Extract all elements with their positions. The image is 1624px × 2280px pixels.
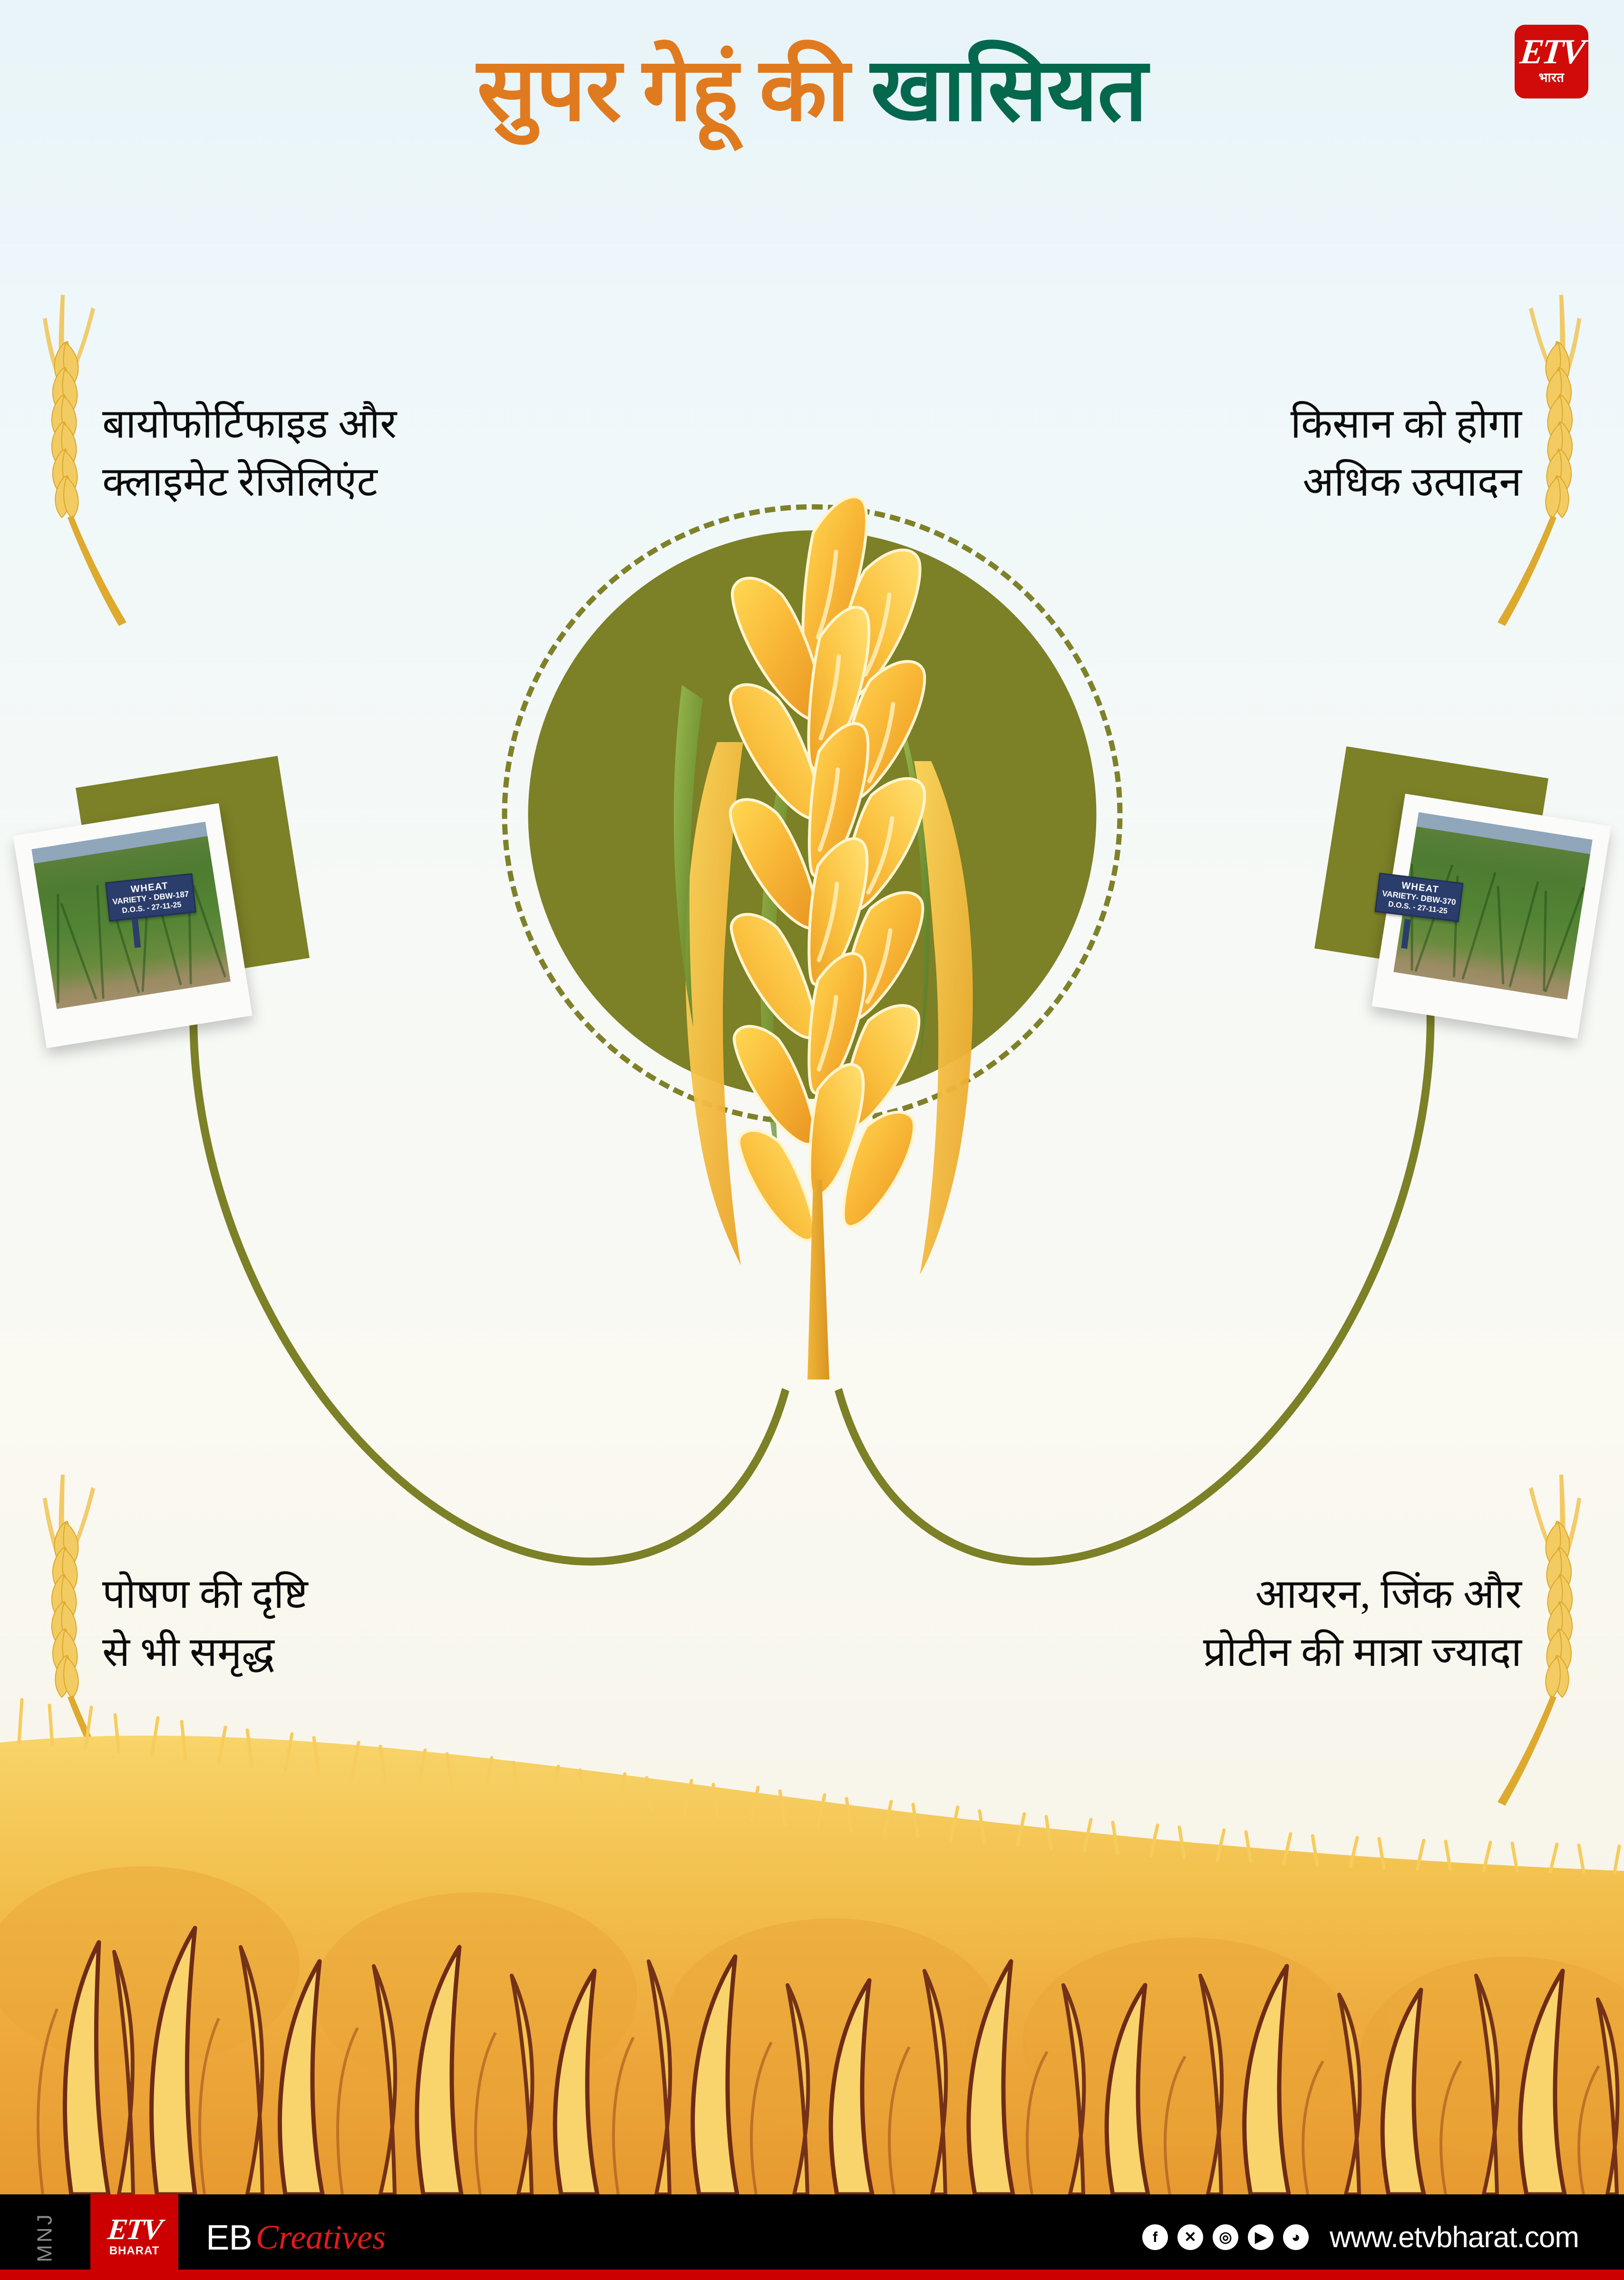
photo-card-left[interactable]: WHEAT VARIETY - DBW-187 D.O.S. - 27-11-2… (19, 761, 323, 1123)
wheat-ear-illustration (598, 476, 1026, 1380)
whatsapp-icon[interactable]: ◕ (1283, 2224, 1309, 2250)
fact-top-left: बायोफोर्टिफाइड और क्लाइमेट रेजिलिएंट (102, 395, 397, 511)
photo-card-right[interactable]: WHEAT VARIETY- DBW-370 D.O.S. - 27-11-25 (1301, 752, 1605, 1113)
mnj-watermark: MNJ (0, 2194, 90, 2280)
fact-bottom-right-line1: आयरन, जिंक और (1203, 1565, 1522, 1623)
website-url[interactable]: www.etvbharat.com (1330, 2221, 1579, 2254)
fact-top-right-line1: किसान को होगा (1291, 395, 1522, 453)
wheat-field-illustration (0, 1662, 1624, 2194)
wheat-stalk-decoration-top-left (5, 266, 133, 628)
footer-social-row: f ✕ ◎ ▶ ◕ www.etvbharat.com (1142, 2194, 1624, 2280)
wheat-stalk-decoration-top-right (1491, 266, 1619, 628)
footer-etv-mark: ETV (107, 2217, 162, 2243)
youtube-icon[interactable]: ▶ (1248, 2224, 1274, 2250)
creatives-label: Creatives (256, 2218, 386, 2257)
etv-bharat-logo[interactable]: ETV भारत (1515, 25, 1588, 98)
etv-logo-mark: ETV (1518, 38, 1584, 67)
poster-footer: MNJ ETV BHARAT EB Creatives f ✕ ◎ ▶ ◕ ww… (0, 2194, 1624, 2280)
footer-etv-sub: BHARAT (109, 2244, 160, 2258)
title-part-orange: सुपर गेहूं की (477, 42, 871, 139)
fact-top-right: किसान को होगा अधिक उत्पादन (1291, 395, 1522, 511)
infographic-poster: सुपर गेहूं की खासियत ETV भारत (0, 0, 1624, 2280)
footer-etv-logo[interactable]: ETV BHARAT (90, 2194, 178, 2280)
photo-card-right-frame (1371, 794, 1611, 1039)
x-twitter-icon[interactable]: ✕ (1177, 2224, 1203, 2250)
fact-top-left-line2: क्लाइमेट रेजिलिएंट (102, 453, 397, 511)
page-title: सुपर गेहूं की खासियत (0, 26, 1624, 146)
eb-creatives-credit: EB Creatives (178, 2194, 386, 2280)
facebook-icon[interactable]: f (1142, 2224, 1168, 2250)
mnj-watermark-text: MNJ (33, 2212, 57, 2262)
title-part-teal: खासियत (871, 42, 1147, 139)
fact-top-right-line2: अधिक उत्पादन (1291, 453, 1522, 511)
instagram-icon[interactable]: ◎ (1213, 2224, 1238, 2250)
poster-header: सुपर गेहूं की खासियत ETV भारत (0, 0, 1624, 157)
fact-top-left-line1: बायोफोर्टिफाइड और (102, 395, 397, 453)
footer-red-bar (0, 2270, 1624, 2280)
eb-label: EB (206, 2217, 252, 2258)
